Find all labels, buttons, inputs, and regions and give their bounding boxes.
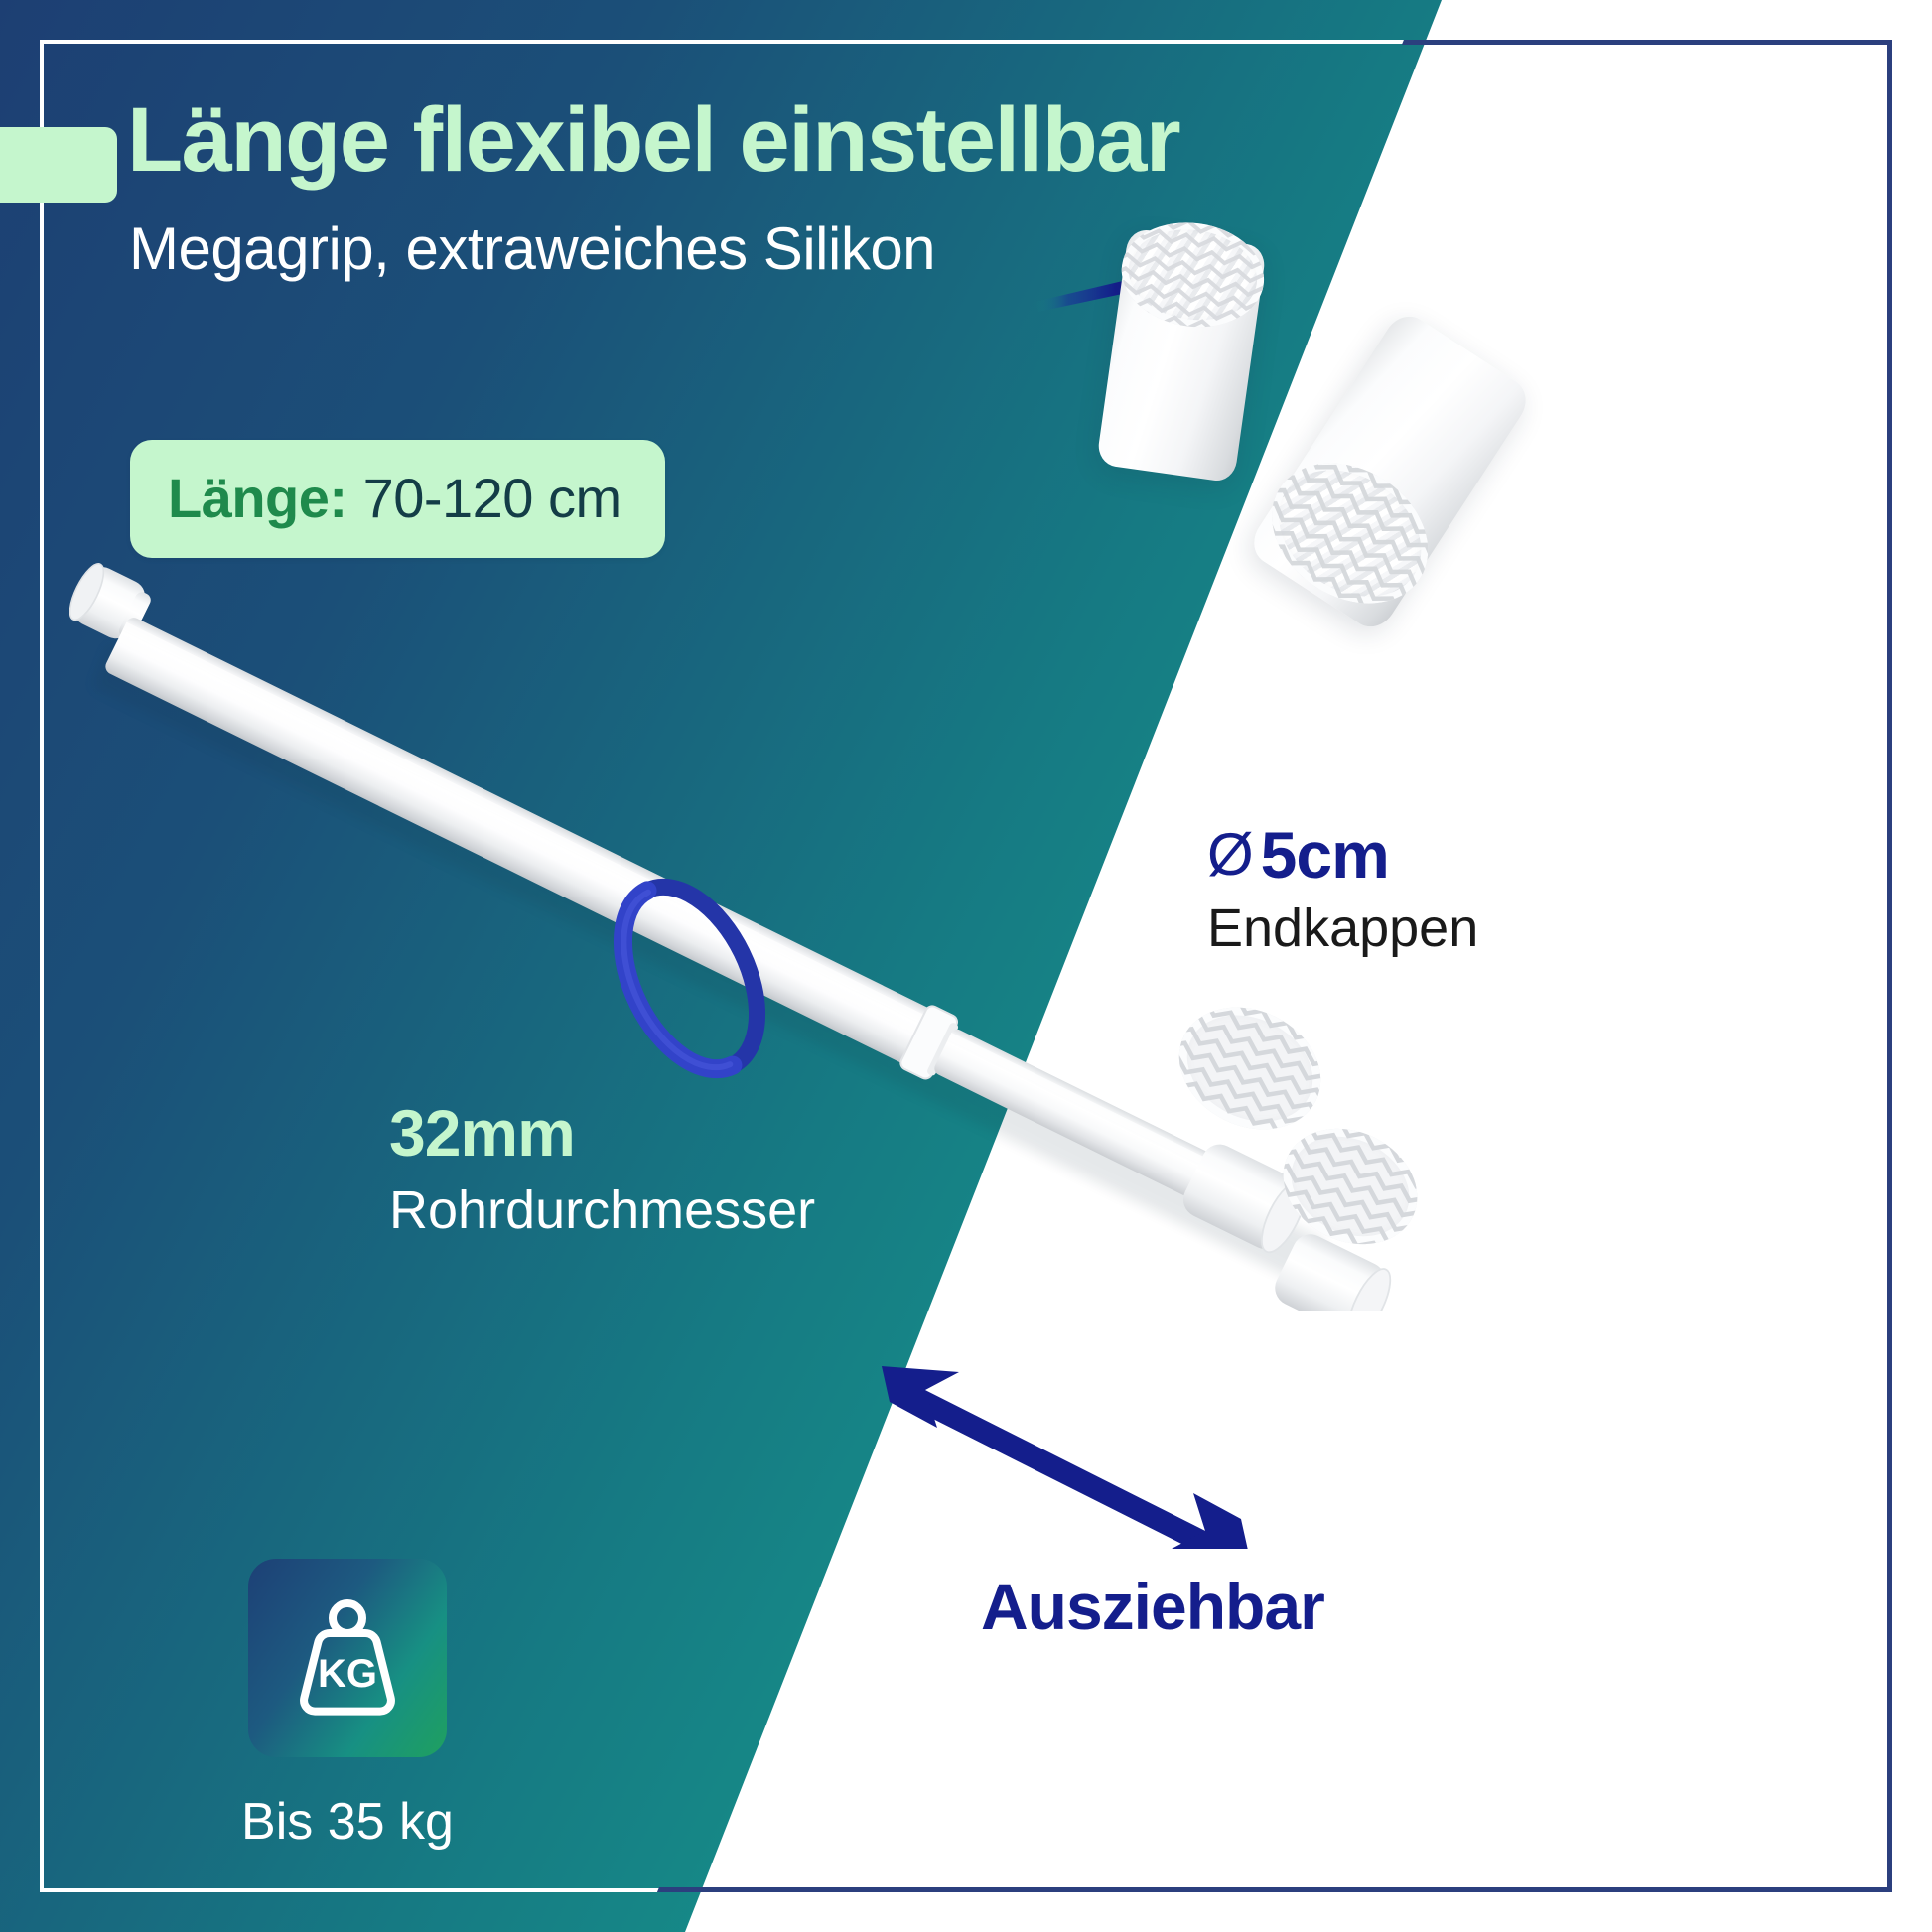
zigzag-texture-icon — [1115, 213, 1271, 336]
tube-diameter-value: 32mm — [389, 1100, 866, 1166]
weight-kg-icon: KG — [286, 1595, 409, 1721]
length-badge-label: Länge: — [168, 466, 347, 530]
length-badge-value: 70-120 cm — [363, 466, 621, 530]
tube-diameter-caption: Rohrdurchmesser — [389, 1183, 866, 1237]
infographic-canvas: Länge flexibel einstellbar Megagrip, ext… — [0, 0, 1932, 1932]
mint-accent-bar — [0, 127, 117, 203]
outer-tube — [103, 615, 941, 1068]
page-title: Länge flexibel einstellbar — [127, 92, 1408, 190]
arrow-double-diagonal-icon — [864, 1350, 1261, 1549]
tube-diameter-callout: 32mm Rohrdurchmesser — [389, 1100, 866, 1237]
end-cap-grip-face — [1115, 213, 1271, 336]
end-cap-upper — [1096, 227, 1267, 483]
length-badge: Länge: 70-120 cm — [130, 440, 665, 558]
weight-icon-text: KG — [318, 1652, 377, 1696]
weight-capacity-caption: Bis 35 kg — [189, 1792, 506, 1852]
extendable-label: Ausziehbar — [981, 1569, 1324, 1644]
weight-capacity-badge: KG — [248, 1559, 447, 1757]
measuring-ring-icon — [571, 859, 809, 1097]
